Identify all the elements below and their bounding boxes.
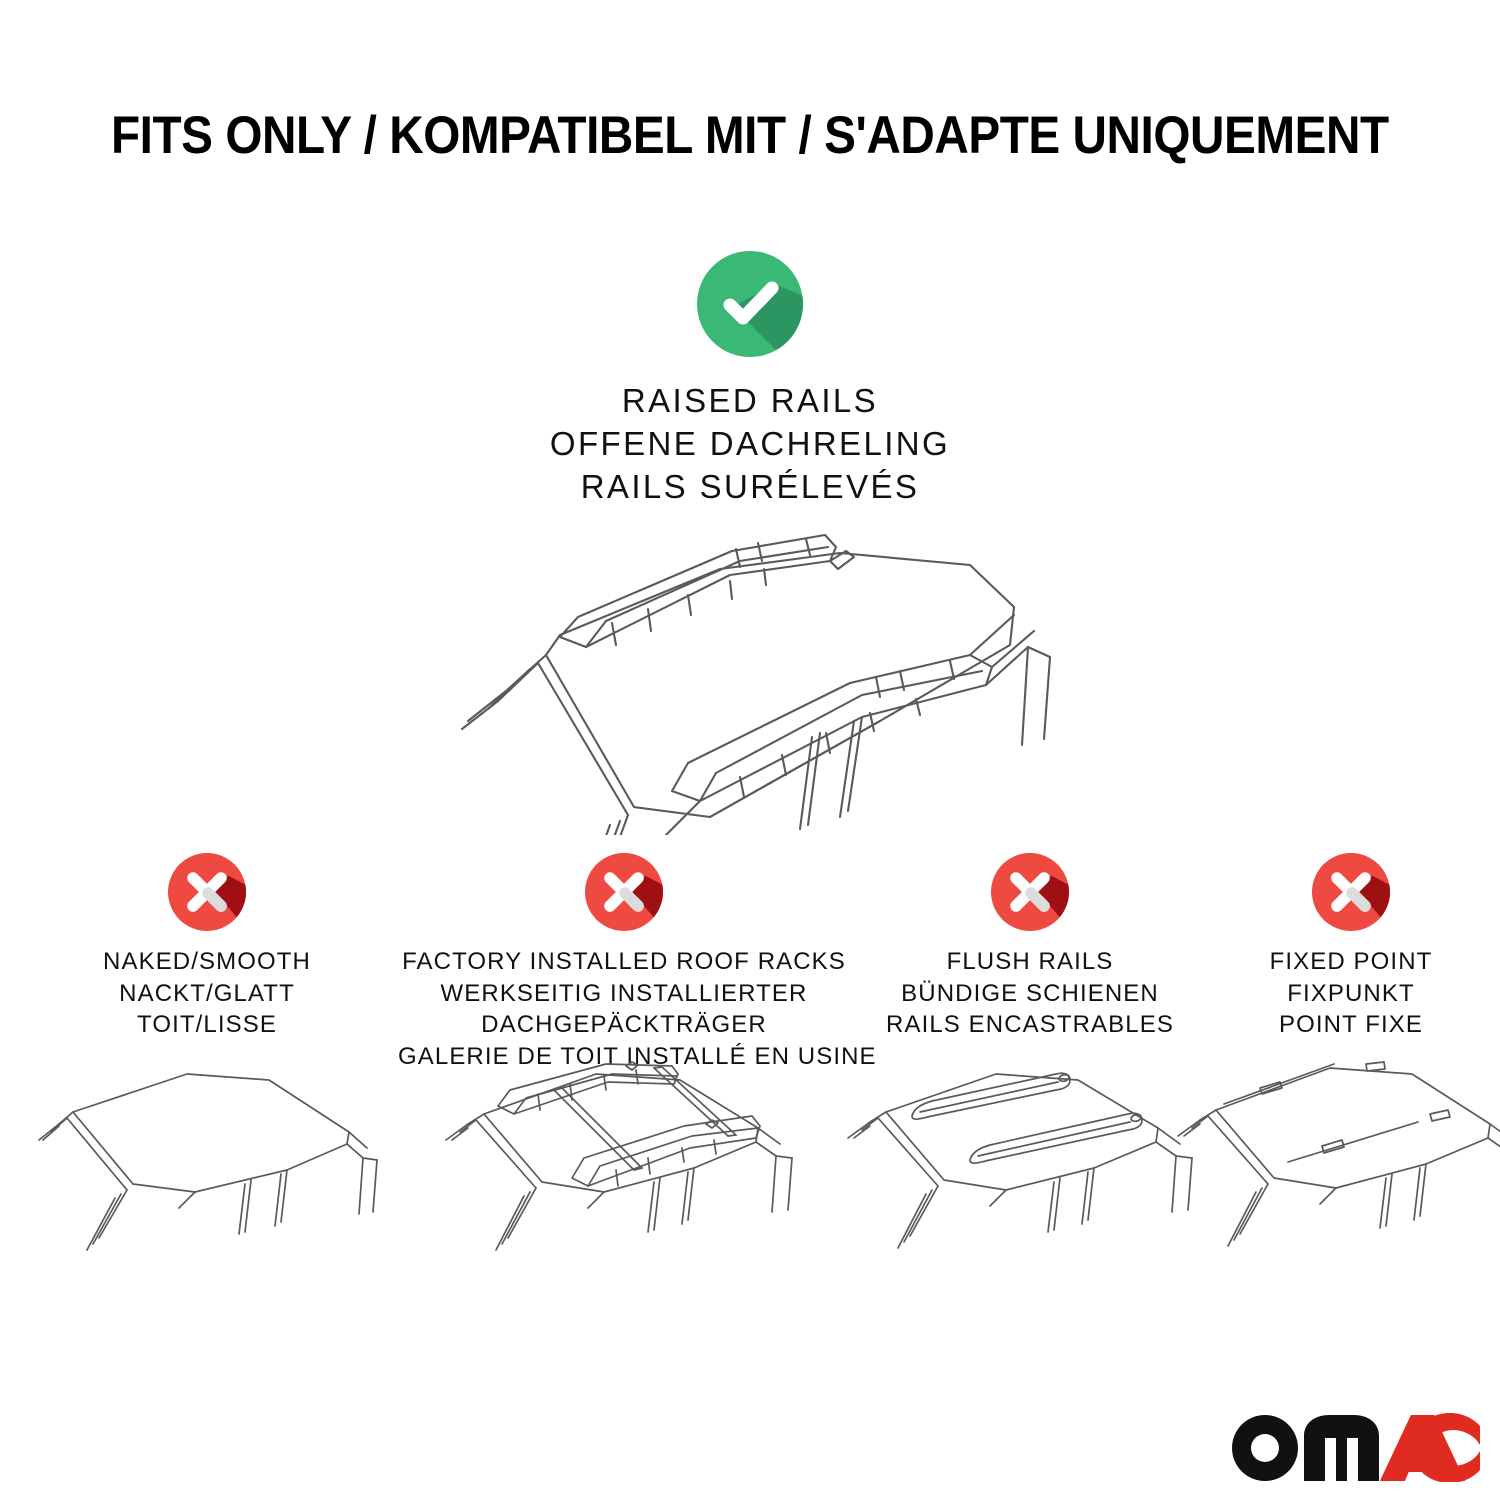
incompatible-labels: NAKED/SMOOTH NACKT/GLATT TOIT/LISSE (47, 946, 367, 1041)
red-x-circle-icon (1311, 852, 1391, 932)
incompatible-label-en: FLUSH RAILS (868, 946, 1192, 978)
red-x-circle-icon (167, 852, 247, 932)
page-title: FITS ONLY / KOMPATIBEL MIT / S'ADAPTE UN… (111, 108, 1389, 164)
incompatible-label-fr: POINT FIXE (1212, 1009, 1490, 1041)
incompatible-label-de: FIXPUNKT (1212, 978, 1490, 1010)
incompatible-option-factory-roof-racks: FACTORY INSTALLED ROOF RACKS WERKSEITIG … (398, 852, 850, 1073)
incompatible-option-fixed-point: FIXED POINT FIXPUNKT POINT FIXE (1212, 852, 1490, 1041)
incompatible-section: NAKED/SMOOTH NACKT/GLATT TOIT/LISSE (0, 852, 1500, 1452)
car-roof-fixed-point-illustration (1164, 1052, 1500, 1267)
incompatible-label-de-2: DACHGEPÄCKTRÄGER (398, 1009, 850, 1041)
incompatible-label-de: BÜNDIGE SCHIENEN (868, 978, 1192, 1010)
car-roof-flush-rails-illustration (828, 1052, 1203, 1267)
incompatible-label-en: FACTORY INSTALLED ROOF RACKS (398, 946, 850, 978)
logo-letter-o (1232, 1415, 1298, 1481)
red-x-circle-icon (990, 852, 1070, 932)
incompatible-label-de-1: WERKSEITIG INSTALLIERTER (398, 978, 850, 1010)
logo-letter-m (1304, 1415, 1379, 1481)
incompatible-option-flush-rails: FLUSH RAILS BÜNDIGE SCHIENEN RAILS ENCAS… (868, 852, 1192, 1041)
page-header: FITS ONLY / KOMPATIBEL MIT / S'ADAPTE UN… (0, 108, 1500, 164)
incompatible-label-de: NACKT/GLATT (47, 978, 367, 1010)
incompatible-label-en: FIXED POINT (1212, 946, 1490, 978)
car-roof-naked-illustration (37, 1052, 389, 1267)
green-check-circle-icon (696, 250, 804, 358)
compatible-label-de: OFFENE DACHRELING (0, 423, 1500, 466)
red-x-circle-icon (584, 852, 664, 932)
incompatible-option-naked-smooth: NAKED/SMOOTH NACKT/GLATT TOIT/LISSE (47, 852, 367, 1041)
incompatible-labels: FACTORY INSTALLED ROOF RACKS WERKSEITIG … (398, 946, 850, 1073)
incompatible-label-fr: RAILS ENCASTRABLES (868, 1009, 1192, 1041)
compatible-section: RAISED RAILS OFFENE DACHRELING RAILS SUR… (0, 250, 1500, 509)
omac-logo: OMAC (1228, 1410, 1480, 1482)
incompatible-labels: FIXED POINT FIXPUNKT POINT FIXE (1212, 946, 1490, 1041)
compatible-label-en: RAISED RAILS (0, 380, 1500, 423)
incompatible-label-en: NAKED/SMOOTH (47, 946, 367, 978)
logo-text: OMAC (1228, 1482, 1229, 1483)
car-roof-factory-racks-illustration (436, 1058, 811, 1273)
compatible-labels: RAISED RAILS OFFENE DACHRELING RAILS SUR… (0, 380, 1500, 509)
incompatible-labels: FLUSH RAILS BÜNDIGE SCHIENEN RAILS ENCAS… (868, 946, 1192, 1041)
car-roof-raised-rails-illustration (410, 495, 1130, 835)
incompatible-label-fr: TOIT/LISSE (47, 1009, 367, 1041)
